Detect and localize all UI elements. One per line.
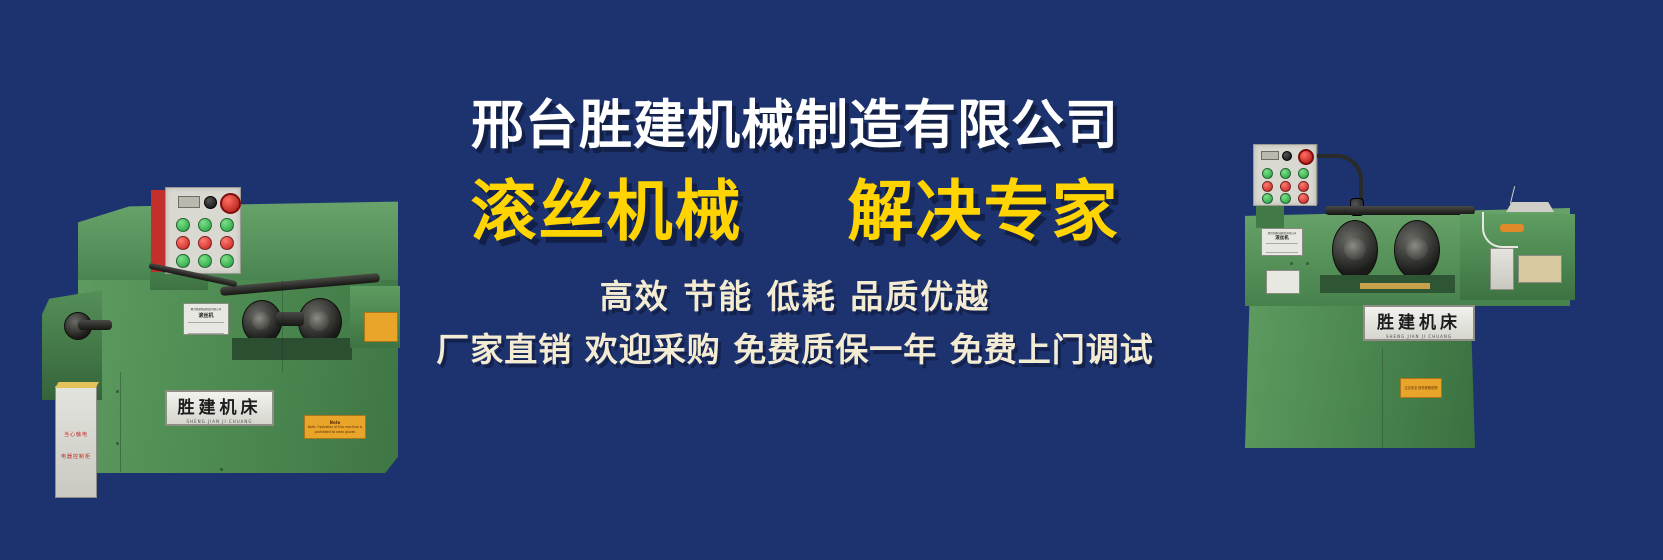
headline-left: 滚丝机械 bbox=[471, 173, 743, 251]
panel-button-2-left[interactable] bbox=[198, 218, 212, 232]
roller-hub-2-left bbox=[309, 311, 329, 331]
spec-plate-model-left: 滚丝机 bbox=[184, 312, 228, 319]
warning-label-text-left: Note: Operation of this machine is prohi… bbox=[305, 425, 365, 434]
promo-banner: 邢台胜建机械制造有限公司 滚丝机 胜建机床 SHENG JIAN JI CHUA… bbox=[0, 0, 1663, 560]
top-rail-right bbox=[1325, 206, 1475, 215]
panel-button-1-left[interactable] bbox=[176, 218, 190, 232]
spec-plate-left: 邢台胜建机械制造有限公司 滚丝机 bbox=[183, 303, 229, 335]
company-name: 邢台胜建机械制造有限公司 bbox=[400, 95, 1190, 157]
panel-button-3-right[interactable] bbox=[1298, 168, 1309, 179]
feeder-antenna-right bbox=[1510, 186, 1515, 204]
panel-button-9-right[interactable] bbox=[1298, 193, 1309, 204]
cabinet-text-2-left: 电器控制柜 bbox=[56, 453, 96, 460]
roller-hub-1-right bbox=[1344, 238, 1366, 260]
roller-hub-2-right bbox=[1406, 238, 1428, 260]
panel-button-7-left[interactable] bbox=[176, 254, 190, 268]
nameplate-pinyin-left: SHENG JIAN JI CHUANG bbox=[187, 419, 253, 424]
headline: 滚丝机械 解决专家 bbox=[400, 173, 1190, 251]
panel-button-6-left[interactable] bbox=[220, 236, 234, 250]
emergency-stop-button-right[interactable] bbox=[1298, 149, 1314, 165]
panel-button-5-right[interactable] bbox=[1280, 181, 1291, 192]
panel-button-3-left[interactable] bbox=[220, 218, 234, 232]
spec-plate-title-right: 邢台胜建机械制造有限公司 bbox=[1265, 231, 1299, 234]
nameplate-pinyin-right: SHENG JIAN JI CHUANG bbox=[1386, 334, 1452, 339]
tail-control-box-right[interactable] bbox=[1490, 248, 1514, 290]
nameplate-left: 胜建机床 SHENG JIAN JI CHUANG bbox=[165, 390, 274, 426]
panel-button-6-right[interactable] bbox=[1298, 181, 1309, 192]
thread-rolling-machine-right: 邢台胜建机械制造有限公司 滚丝机 胜建机床 SHENG JIAN JI CHUA… bbox=[1160, 120, 1580, 455]
emergency-stop-button-left[interactable] bbox=[220, 193, 241, 214]
nameplate-cn-left: 胜建机床 bbox=[178, 393, 262, 418]
bed-bolt-2-right bbox=[1306, 262, 1309, 265]
panel-display-left bbox=[178, 196, 200, 208]
panel-button-8-left[interactable] bbox=[198, 254, 212, 268]
panel-button-4-left[interactable] bbox=[176, 236, 190, 250]
nameplate-right: 胜建机床 SHENG JIAN JI CHUANG bbox=[1363, 305, 1475, 341]
cabinet-text-1-left: 当心触电 bbox=[56, 431, 96, 438]
panel-selector-knob-left[interactable] bbox=[204, 196, 217, 209]
cabinet-top-edge-left bbox=[55, 382, 99, 388]
warning-label-left: Note Note: Operation of this machine is … bbox=[304, 415, 366, 439]
panel-button-8-right[interactable] bbox=[1280, 193, 1291, 204]
electrical-cabinet-left[interactable]: 当心触电 电器控制柜 bbox=[55, 386, 97, 498]
base-bolt-1-left bbox=[116, 390, 119, 393]
roller-hub-1-left bbox=[252, 312, 270, 330]
warning-label-text-right: 注意安全 操作规程说明 bbox=[1403, 386, 1440, 391]
bed-bolt-1-right bbox=[1290, 262, 1293, 265]
panel-button-1-right[interactable] bbox=[1262, 168, 1273, 179]
base-seam-2-left bbox=[282, 280, 283, 372]
feeder-tray-right bbox=[1506, 202, 1554, 212]
sub-line-1: 高效 节能 低耗 品质优越 bbox=[400, 277, 1190, 317]
headline-right: 解决专家 bbox=[848, 173, 1120, 251]
base-bolt-2-left bbox=[116, 442, 119, 445]
panel-button-9-left[interactable] bbox=[220, 254, 234, 268]
panel-button-2-right[interactable] bbox=[1280, 168, 1291, 179]
tail-plate-right bbox=[1518, 255, 1562, 283]
base-seam-1-left bbox=[120, 372, 121, 472]
spec-plate-model-right: 滚丝机 bbox=[1262, 235, 1302, 241]
workpiece-rest-right bbox=[1360, 283, 1430, 289]
thread-rolling-machine-left: 邢台胜建机械制造有限公司 滚丝机 胜建机床 SHENG JIAN JI CHUA… bbox=[20, 90, 420, 475]
control-panel-left[interactable] bbox=[165, 187, 241, 274]
tail-warning-text-left bbox=[379, 324, 382, 331]
base-bolt-3-left bbox=[220, 468, 223, 471]
panel-button-4-right[interactable] bbox=[1262, 181, 1273, 192]
roller-axle-left bbox=[276, 312, 304, 326]
spec-plate-rows-right bbox=[1266, 243, 1298, 253]
panel-display-right bbox=[1261, 151, 1279, 160]
nameplate-cn-right: 胜建机床 bbox=[1377, 308, 1461, 333]
spec-plate-title-left: 邢台胜建机械制造有限公司 bbox=[187, 307, 224, 310]
warning-label-right: 注意安全 操作规程说明 bbox=[1400, 378, 1442, 398]
drive-shaft-left bbox=[78, 320, 112, 330]
panel-button-7-right[interactable] bbox=[1262, 193, 1273, 204]
banner-text-block: 邢台胜建机械制造有限公司 滚丝机械 解决专家 高效 节能 低耗 品质优越 厂家直… bbox=[400, 95, 1190, 370]
roller-support-left bbox=[232, 338, 352, 360]
spec-plate-secondary-right bbox=[1266, 270, 1300, 294]
nozzle-cluster-right bbox=[1500, 224, 1524, 232]
panel-selector-knob-right[interactable] bbox=[1282, 151, 1292, 161]
panel-button-5-left[interactable] bbox=[198, 236, 212, 250]
control-panel-right[interactable] bbox=[1253, 144, 1317, 206]
sub-line-2: 厂家直销 欢迎采购 免费质保一年 免费上门调试 bbox=[400, 330, 1190, 370]
tail-warning-plate-left bbox=[364, 312, 398, 342]
spec-plate-rows-left bbox=[188, 322, 224, 334]
spec-plate-right: 邢台胜建机械制造有限公司 滚丝机 bbox=[1261, 228, 1303, 256]
base-seam-right bbox=[1382, 348, 1383, 448]
